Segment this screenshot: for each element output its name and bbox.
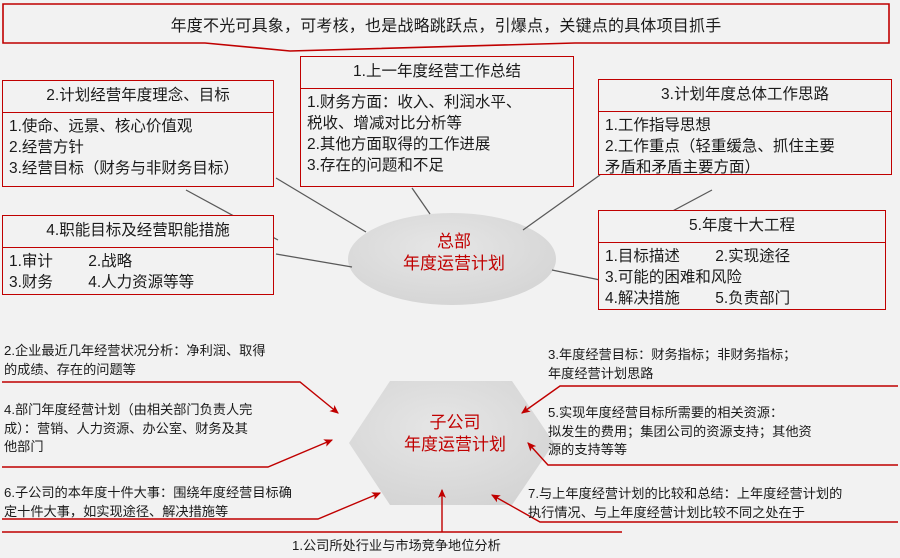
note-4-line-3: 他部门 — [4, 438, 334, 457]
diagram-canvas: 年度不光可具象，可考核，也是战略跳跃点，引爆点，关键点的具体项目抓手 1.上一年… — [0, 0, 900, 558]
card-2-body: 1.使命、远景、核心价值观 2.经营方针 3.经营目标（财务与非财务目标） — [3, 113, 273, 183]
note-2-line-2: 的成绩、存在的问题等 — [4, 361, 334, 380]
card-3-line-1: 1.工作指导思想 — [605, 115, 886, 136]
card-2[interactable]: 2.计划经营年度理念、目标 1.使命、远景、核心价值观 2.经营方针 3.经营目… — [2, 80, 274, 187]
card-4-line-1: 1.审计 2.战略 — [9, 251, 268, 272]
card-5-body: 1.目标描述 2.实现途径 3.可能的困难和风险 4.解决措施 5.负责部门 — [599, 243, 885, 313]
card-4[interactable]: 4.职能目标及经营职能措施 1.审计 2.战略 3.财务 4.人力资源等等 — [2, 215, 274, 295]
card-5[interactable]: 5.年度十大工程 1.目标描述 2.实现途径 3.可能的困难和风险 4.解决措施… — [598, 210, 886, 310]
subsidiary-hub-label: 子公司 年度运营计划 — [390, 412, 520, 457]
note-5-line-2: 拟发生的费用；集团公司的资源支持；其他资 — [548, 423, 900, 442]
note-3[interactable]: 3.年度经营目标：财务指标；非财务指标； 年度经营计划思路 — [548, 346, 898, 383]
note-1-line-1: 1.公司所处行业与市场竞争地位分析 — [292, 537, 692, 556]
top-banner: 年度不光可具象，可考核，也是战略跳跃点，引爆点，关键点的具体项目抓手 — [3, 4, 889, 44]
card-5-line-1: 1.目标描述 2.实现途径 — [605, 246, 880, 267]
card-3[interactable]: 3.计划年度总体工作思路 1.工作指导思想 2.工作重点（轻重缓急、抓住主要 矛… — [598, 79, 892, 175]
card-2-line-2: 2.经营方针 — [9, 137, 268, 158]
connector-card4 — [276, 254, 352, 267]
card-3-line-2: 2.工作重点（轻重缓急、抓住主要 — [605, 136, 886, 157]
card-5-title: 5.年度十大工程 — [599, 211, 885, 243]
headquarters-hub-label: 总部 年度运营计划 — [384, 231, 524, 276]
note-5-line-1: 5.实现年度经营目标所需要的相关资源： — [548, 404, 900, 423]
card-3-title: 3.计划年度总体工作思路 — [599, 80, 891, 112]
headquarters-hub-line-2: 年度运营计划 — [403, 254, 505, 273]
note-6[interactable]: 6.子公司的本年度十件大事：围绕年度经营目标确 定十件大事，如实现途径、解决措施… — [4, 484, 354, 521]
top-banner-text: 年度不光可具象，可考核，也是战略跳跃点，引爆点，关键点的具体项目抓手 — [171, 12, 722, 36]
card-5-line-2: 3.可能的困难和风险 — [605, 267, 880, 288]
note-2-line-1: 2.企业最近几年经营状况分析：净利润、取得 — [4, 342, 334, 361]
headquarters-hub-line-1: 总部 — [437, 232, 471, 251]
note-4-line-2: 成）：营销、人力资源、办公室、财务及其 — [4, 420, 334, 439]
note-5-line-3: 源的支持等等 — [548, 441, 900, 460]
card-5-line-3: 4.解决措施 5.负责部门 — [605, 288, 880, 309]
note-4[interactable]: 4.部门年度经营计划（由相关部门负责人完 成）：营销、人力资源、办公室、财务及其… — [4, 401, 334, 457]
connector-card1 — [412, 188, 430, 214]
note-7[interactable]: 7.与上年度经营计划的比较和总结：上年度经营计划的 执行情况、与上年度经营计划比… — [528, 485, 900, 522]
note-5[interactable]: 5.实现年度经营目标所需要的相关资源： 拟发生的费用；集团公司的资源支持；其他资… — [548, 404, 900, 460]
card-4-body: 1.审计 2.战略 3.财务 4.人力资源等等 — [3, 248, 273, 297]
card-1[interactable]: 1.上一年度经营工作总结 1.财务方面：收入、利润水平、 税收、增减对比分析等 … — [300, 56, 574, 187]
card-4-line-2: 3.财务 4.人力资源等等 — [9, 272, 268, 293]
note-6-line-2: 定十件大事，如实现途径、解决措施等 — [4, 503, 354, 522]
card-2-line-3: 3.经营目标（财务与非财务目标） — [9, 158, 268, 179]
card-1-title: 1.上一年度经营工作总结 — [301, 57, 573, 89]
card-2-line-1: 1.使命、远景、核心价值观 — [9, 116, 268, 137]
subsidiary-hub-line-1: 子公司 — [430, 413, 481, 432]
card-1-line-4: 3.存在的问题和不足 — [307, 155, 568, 176]
card-3-line-3: 矛盾和矛盾主要方面） — [605, 157, 886, 178]
note-2[interactable]: 2.企业最近几年经营状况分析：净利润、取得 的成绩、存在的问题等 — [4, 342, 334, 379]
note-3-line-2: 年度经营计划思路 — [548, 365, 898, 384]
note-4-line-1: 4.部门年度经营计划（由相关部门负责人完 — [4, 401, 334, 420]
note-7-line-1: 7.与上年度经营计划的比较和总结：上年度经营计划的 — [528, 485, 900, 504]
card-1-line-1: 1.财务方面：收入、利润水平、 — [307, 92, 568, 113]
card-1-line-3: 2.其他方面取得的工作进展 — [307, 134, 568, 155]
note-6-line-1: 6.子公司的本年度十件大事：围绕年度经营目标确 — [4, 484, 354, 503]
card-4-title: 4.职能目标及经营职能措施 — [3, 216, 273, 248]
connector-card5 — [552, 270, 600, 280]
card-1-line-2: 税收、增减对比分析等 — [307, 113, 568, 134]
card-2-title: 2.计划经营年度理念、目标 — [3, 81, 273, 113]
note-1[interactable]: 1.公司所处行业与市场竞争地位分析 — [292, 537, 692, 556]
note-3-line-1: 3.年度经营目标：财务指标；非财务指标； — [548, 346, 898, 365]
card-3-body: 1.工作指导思想 2.工作重点（轻重缓急、抓住主要 矛盾和矛盾主要方面） — [599, 112, 891, 182]
card-1-body: 1.财务方面：收入、利润水平、 税收、增减对比分析等 2.其他方面取得的工作进展… — [301, 89, 573, 180]
note-7-line-2: 执行情况、与上年度经营计划比较不同之处在于 — [528, 504, 900, 523]
subsidiary-hub-line-2: 年度运营计划 — [404, 435, 506, 454]
